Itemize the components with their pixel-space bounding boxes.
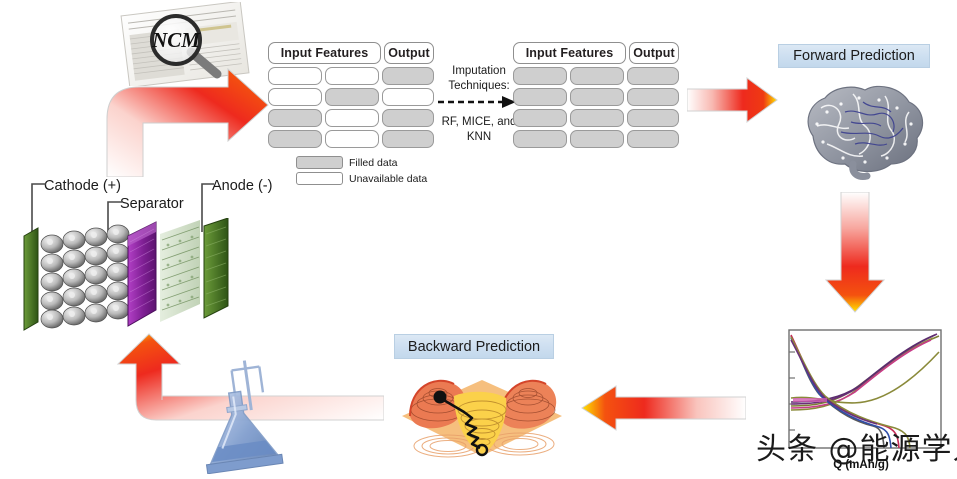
table-cell — [268, 67, 322, 85]
table-cell — [513, 130, 567, 148]
table-cell — [268, 109, 322, 127]
table-cell — [268, 88, 322, 106]
raw-data-table: Input Features Output — [268, 42, 434, 154]
magnifier-label: NCM — [151, 28, 201, 52]
table-cell — [513, 88, 567, 106]
imputed-data-table: Input Features Output — [513, 42, 679, 154]
table-cell — [382, 67, 434, 85]
raw-table-header-input-features: Input Features — [268, 42, 381, 64]
table-cell — [570, 130, 624, 148]
table-cell — [570, 67, 624, 85]
dashed-arrow-right-icon — [436, 94, 522, 110]
table-cell — [627, 109, 679, 127]
legend-swatch-filled — [296, 156, 343, 169]
table-cell — [268, 130, 322, 148]
table-cell — [325, 130, 379, 148]
legend-label-unavailable: Unavailable data — [349, 173, 427, 185]
arrow-down-to-chart — [822, 192, 888, 314]
table-cell — [325, 88, 379, 106]
lab-flask-icon — [186, 356, 290, 474]
table-cell — [570, 109, 624, 127]
elbow-arrow-up-right — [60, 57, 275, 177]
imputation-line-4: KNN — [436, 130, 522, 145]
table-legend: Filled data Unavailable data — [296, 156, 466, 188]
brain-neural-network-icon — [793, 78, 933, 184]
table-cell — [627, 67, 679, 85]
forward-prediction-label: Forward Prediction — [778, 44, 930, 68]
arrow-right-to-forward-prediction — [687, 76, 779, 124]
raw-table-header-output: Output — [384, 42, 434, 64]
imputation-line-2: Techniques: — [436, 79, 522, 94]
imputed-table-header-input-features: Input Features — [513, 42, 626, 64]
start-point-marker — [434, 391, 447, 404]
arrow-left-to-backward-prediction — [578, 383, 746, 433]
imputation-annotation: Imputation Techniques: RF, MICE, and KNN — [436, 64, 522, 148]
table-cell — [382, 88, 434, 106]
table-cell — [382, 109, 434, 127]
battery-cross-section-icon — [16, 218, 244, 340]
table-cell — [513, 67, 567, 85]
table-cell — [325, 109, 379, 127]
table-cell — [382, 130, 434, 148]
watermark-text: 头条 @能源学人 — [756, 424, 957, 468]
table-cell — [325, 67, 379, 85]
table-cell — [627, 130, 679, 148]
imputed-table-header-output: Output — [629, 42, 679, 64]
imputation-line-3: RF, MICE, and — [436, 115, 522, 130]
optimization-landscape-icon — [392, 366, 572, 474]
backward-prediction-label: Backward Prediction — [394, 334, 554, 359]
table-cell — [513, 109, 567, 127]
legend-label-filled: Filled data — [349, 157, 397, 169]
imputation-line-1: Imputation — [436, 64, 522, 79]
table-cell — [627, 88, 679, 106]
table-cell — [570, 88, 624, 106]
